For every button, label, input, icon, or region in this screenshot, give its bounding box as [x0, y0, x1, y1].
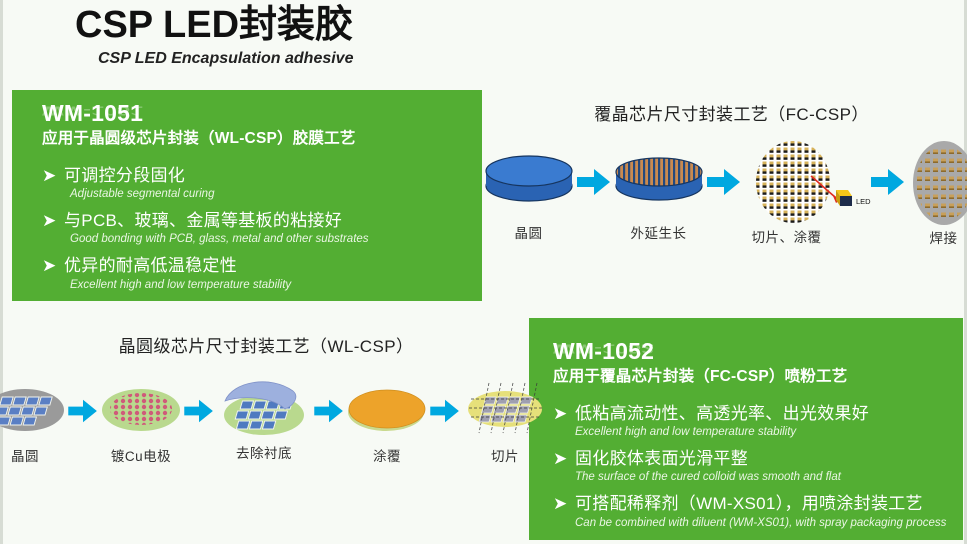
arrow-bullet-icon: ➤	[553, 449, 575, 470]
step-caption: 镀Cu电极	[111, 445, 171, 465]
product-subtitle-wm-1052: 应用于覆晶芯片封装（FC-CSP）喷粉工艺	[553, 368, 963, 387]
diagram-wl-csp: 晶圆级芯片尺寸封装工艺（WL-CSP）	[11, 332, 521, 492]
process-step: 晶圆	[0, 379, 68, 465]
list-item: ➤ 固化胶体表面光滑平整 The surface of the cured co…	[553, 449, 963, 485]
flow-arrow-icon	[68, 382, 98, 440]
process-step: 外延生长	[611, 144, 707, 242]
feature-en: Good bonding with PCB, glass, metal and …	[70, 232, 482, 246]
slide-header: CSP LED封装胶 CSP LED Encapsulation adhesiv…	[3, 6, 964, 68]
wafer-dotted-icon: LED Chip	[741, 140, 871, 226]
feature-en: Excellent high and low temperature stabi…	[575, 425, 963, 439]
feature-en: The surface of the cured colloid was smo…	[575, 470, 963, 484]
feature-cn: 可调控分段固化	[64, 166, 482, 187]
product-subtitle-wm-1051: 应用于晶圆级芯片封装（WL-CSP）胶膜工艺	[42, 130, 482, 149]
product-code-wm-1052: WM-1052 WM-1052	[553, 340, 963, 363]
led-chip-label: LED Chip	[856, 197, 871, 206]
arrow-bullet-icon: ➤	[42, 211, 64, 232]
process-step: 镀Cu电极	[98, 379, 184, 465]
process-step: 焊接	[905, 139, 967, 247]
process-step: 涂覆	[344, 379, 430, 465]
wafer-gray-grid-icon	[0, 379, 68, 437]
flow-arrow-icon	[871, 147, 905, 217]
diagram-fc-csp: 覆晶芯片尺寸封装工艺（FC-CSP） 晶圆	[493, 100, 967, 250]
page-title: CSP LED封装胶	[75, 6, 964, 46]
step-caption: 切片	[491, 445, 519, 465]
feature-cn: 优异的耐高低温稳定性	[64, 256, 482, 277]
step-caption: 去除衬底	[236, 442, 292, 462]
arrow-bullet-icon: ➤	[553, 404, 575, 425]
step-caption: 焊接	[930, 227, 958, 247]
feature-cn: 固化胶体表面光滑平整	[575, 449, 963, 470]
product-panel-wm-1052: WM-1052 WM-1052 应用于覆晶芯片封装（FC-CSP）喷粉工艺 ➤ …	[529, 318, 963, 540]
wafer-cu-electrode-icon	[98, 379, 184, 437]
list-item: ➤ 低粘高流动性、高透光率、出光效果好 Excellent high and l…	[553, 404, 963, 440]
arrow-bullet-icon: ➤	[42, 256, 64, 277]
process-step: 切片	[460, 379, 550, 465]
step-caption: 涂覆	[373, 445, 401, 465]
step-caption: 晶圆	[515, 222, 543, 242]
product-code-text: WM-1051	[42, 100, 143, 126]
flow-arrow-icon	[184, 382, 214, 440]
arrow-bullet-icon: ➤	[553, 494, 575, 515]
product-code-text: WM-1052	[553, 338, 654, 364]
step-caption: 外延生长	[631, 222, 687, 242]
step-caption: 晶圆	[11, 445, 39, 465]
feature-cn: 低粘高流动性、高透光率、出光效果好	[575, 404, 963, 425]
wafer-diced-icon	[460, 379, 550, 437]
arrow-bullet-icon: ➤	[42, 166, 64, 187]
wafer-disc-blue-icon	[481, 144, 577, 214]
flow-arrow-icon	[707, 147, 741, 217]
feature-cn: 与PCB、玻璃、金属等基板的粘接好	[64, 211, 482, 232]
wafer-disc-striped-icon	[611, 144, 707, 214]
process-step: 晶圆	[481, 144, 577, 242]
list-item: ➤ 与PCB、玻璃、金属等基板的粘接好 Good bonding with PC…	[42, 211, 482, 247]
list-item: ➤ 可搭配稀释剂（WM-XS01），用喷涂封装工艺 Can be combine…	[553, 494, 963, 530]
feature-list-wm-1052: ➤ 低粘高流动性、高透光率、出光效果好 Excellent high and l…	[553, 404, 963, 530]
wafer-coated-orange-icon	[344, 379, 430, 437]
flow-arrow-icon	[314, 382, 344, 440]
feature-cn: 可搭配稀释剂（WM-XS01），用喷涂封装工艺	[575, 494, 963, 515]
slide-root: CSP LED封装胶 CSP LED Encapsulation adhesiv…	[0, 0, 967, 544]
feature-en: Excellent high and low temperature stabi…	[70, 278, 482, 292]
feature-en: Can be combined with diluent (WM-XS01), …	[575, 516, 963, 530]
feature-en: Adjustable segmental curing	[70, 187, 482, 201]
process-step: LED Chip 切片、涂覆	[741, 140, 871, 246]
list-item: ➤ 可调控分段固化 Adjustable segmental curing	[42, 166, 482, 202]
step-caption: 切片、涂覆	[752, 226, 822, 246]
diagram-title-fc-csp: 覆晶芯片尺寸封装工艺（FC-CSP）	[493, 100, 967, 125]
wafer-peel-substrate-icon	[214, 382, 314, 440]
flow-arrow-icon	[430, 382, 460, 440]
list-item: ➤ 优异的耐高低温稳定性 Excellent high and low temp…	[42, 256, 482, 292]
product-panel-wm-1051: WM-1051 WM-1051 应用于晶圆级芯片封装（WL-CSP）胶膜工艺 ➤…	[12, 90, 482, 301]
product-code-wm-1051: WM-1051 WM-1051	[42, 102, 482, 125]
feature-list-wm-1051: ➤ 可调控分段固化 Adjustable segmental curing ➤ …	[42, 166, 482, 292]
diagram-title-wl-csp: 晶圆级芯片尺寸封装工艺（WL-CSP）	[11, 332, 521, 357]
page-subtitle: CSP LED Encapsulation adhesive	[98, 50, 964, 68]
flow-arrow-icon	[577, 147, 611, 217]
board-oval-icon	[905, 139, 967, 227]
process-step: 去除衬底	[214, 382, 314, 462]
